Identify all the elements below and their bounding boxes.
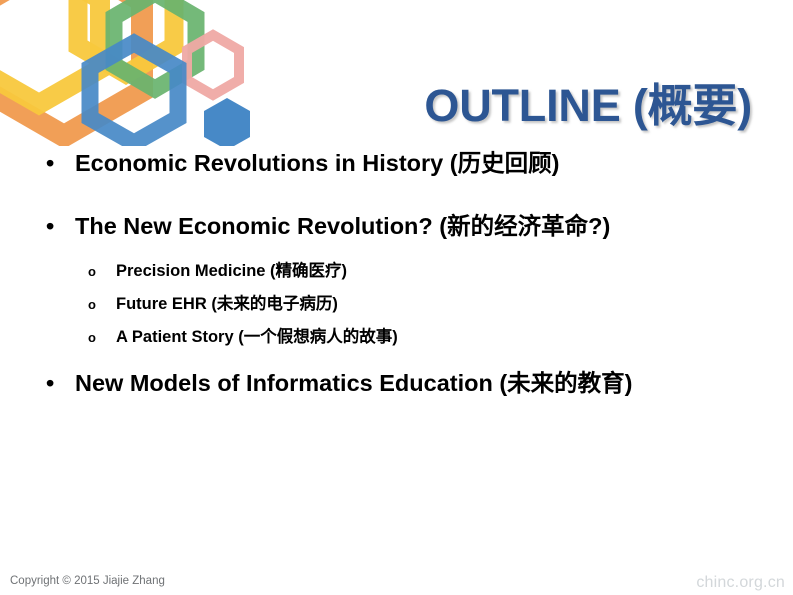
outline-item-label: New Models of Informatics Education (未来的…	[75, 370, 633, 396]
spacer	[0, 315, 793, 328]
outline-item-label: The New Economic Revolution? (新的经济革命?)	[75, 213, 610, 239]
hexagon-yellow	[0, 0, 100, 104]
hexagon-blue-solid	[204, 98, 250, 146]
bullet-marker: •	[46, 213, 54, 241]
spacer	[0, 282, 793, 295]
presentation-slide: OUTLINE (概要) • Economic Revolutions in H…	[0, 0, 793, 595]
outline-subitem-label: Future EHR (未来的电子病历)	[116, 295, 338, 313]
outline-subitem-precision-medicine: o Precision Medicine (精确医疗)	[0, 262, 793, 282]
outline-subitem-future-ehr: o Future EHR (未来的电子病历)	[0, 295, 793, 315]
outline-item-new-models-informatics-education: • New Models of Informatics Education (未…	[0, 370, 793, 398]
slide-title: OUTLINE (概要)	[424, 69, 752, 134]
site-watermark: chinc.org.cn	[696, 574, 785, 592]
outline-subitem-label: Precision Medicine (精确医疗)	[116, 262, 347, 280]
bullet-marker: •	[46, 150, 54, 178]
hexagon-pink	[187, 35, 239, 95]
hexagon-yellow-small	[78, 0, 174, 74]
outline-item-label: Economic Revolutions in History (历史回顾)	[75, 150, 559, 176]
bullet-marker: •	[46, 370, 54, 398]
circle-bullet-marker: o	[88, 329, 96, 348]
spacer	[0, 240, 793, 262]
outline-list: • Economic Revolutions in History (历史回顾)…	[0, 150, 793, 398]
hexagon-cluster-logo	[0, 0, 262, 146]
copyright-notice: Copyright © 2015 Jiajie Zhang	[10, 575, 165, 587]
outline-item-economic-revolutions: • Economic Revolutions in History (历史回顾)	[0, 150, 793, 178]
circle-bullet-marker: o	[88, 296, 96, 315]
spacer	[0, 348, 793, 370]
spacer	[0, 178, 793, 213]
hexagon-green	[114, 0, 196, 89]
circle-bullet-marker: o	[88, 263, 96, 282]
outline-item-new-economic-revolution: • The New Economic Revolution? (新的经济革命?)	[0, 213, 793, 241]
hexagon-blue	[90, 43, 178, 143]
outline-subitem-patient-story: o A Patient Story (一个假想病人的故事)	[0, 328, 793, 348]
hexagon-orange-large	[0, 0, 142, 136]
outline-subitem-label: A Patient Story (一个假想病人的故事)	[116, 328, 398, 346]
